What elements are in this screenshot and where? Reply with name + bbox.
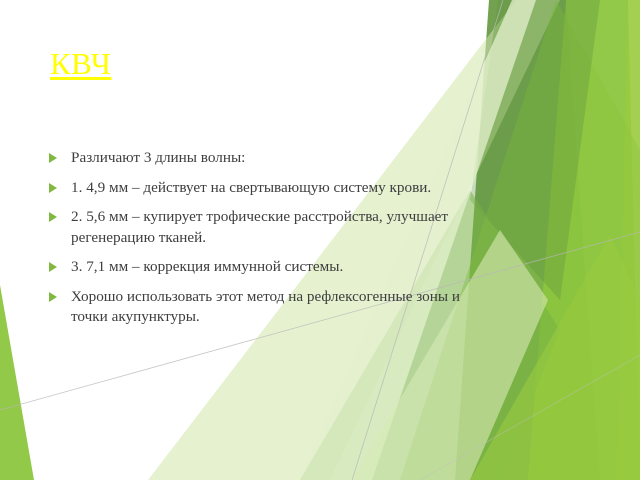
bullet-list: Различают 3 длины волны: 1. 4,9 мм – дей… <box>47 148 467 337</box>
list-item-label: 2. 5,6 мм – купирует трофические расстро… <box>71 207 467 248</box>
list-item: Различают 3 длины волны: <box>47 148 467 169</box>
list-item: 1. 4,9 мм – действует на свертывающую си… <box>47 178 467 199</box>
list-item-label: 1. 4,9 мм – действует на свертывающую си… <box>71 178 467 199</box>
list-item-label: 3. 7,1 мм – коррекция иммунной системы. <box>71 257 467 278</box>
list-item: Хорошо использовать этот метод на рефлек… <box>47 287 467 328</box>
triangle-bullet-icon <box>49 212 57 222</box>
list-item: 2. 5,6 мм – купирует трофические расстро… <box>47 207 467 248</box>
list-item-label: Хорошо использовать этот метод на рефлек… <box>71 287 467 328</box>
slide-content: КВЧ Различают 3 длины волны: 1. 4,9 мм –… <box>0 0 640 480</box>
presentation-slide: КВЧ Различают 3 длины волны: 1. 4,9 мм –… <box>0 0 640 480</box>
list-item: 3. 7,1 мм – коррекция иммунной системы. <box>47 257 467 278</box>
triangle-bullet-icon <box>49 262 57 272</box>
page-title: КВЧ <box>50 47 111 81</box>
triangle-bullet-icon <box>49 292 57 302</box>
triangle-bullet-icon <box>49 183 57 193</box>
triangle-bullet-icon <box>49 153 57 163</box>
list-item-label: Различают 3 длины волны: <box>71 148 467 169</box>
